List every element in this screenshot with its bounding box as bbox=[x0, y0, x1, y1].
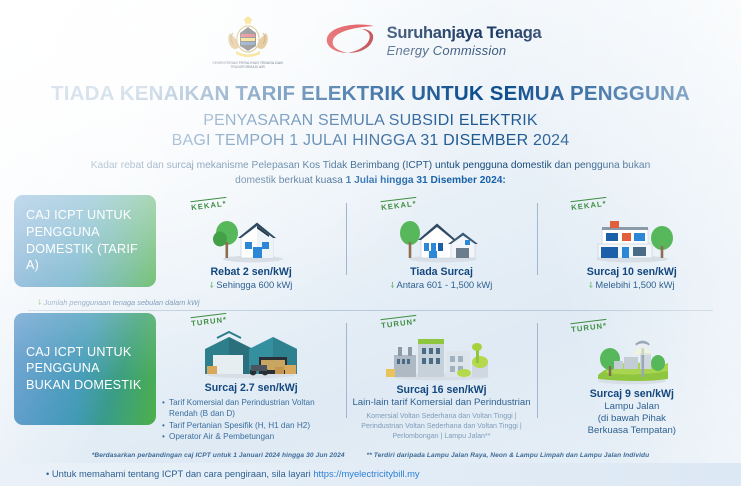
tier-description: Lain-lain tarif Komersial dan Perindustr… bbox=[352, 397, 530, 408]
dagger-icon: ⸸ bbox=[589, 281, 593, 290]
domestic-tier-1: KEKAL* Re bbox=[156, 195, 346, 295]
tier-description-line-3: Berkuasa Tempatan) bbox=[588, 425, 676, 436]
title-block: TIADA KENAIKAN TARIF ELEKTRIK UNTUK SEMU… bbox=[0, 82, 741, 189]
intro-highlight: 1 Julai hingga 31 Disember 2024: bbox=[346, 175, 506, 186]
footnote-2: ** Terdiri daripada Lampu Jalan Raya, Ne… bbox=[367, 452, 650, 459]
domestic-section: CAJ ICPT UNTUK PENGGUNA DOMESTIK (TARIF … bbox=[0, 195, 741, 295]
main-title: TIADA KENAIKAN TARIF ELEKTRIK UNTUK SEMU… bbox=[14, 82, 727, 106]
subtitle-line-1: PENYASARAN SEMULA SUBSIDI ELEKTRIK bbox=[14, 111, 727, 131]
footer: *Berdasarkan perbandingan caj ICPT untuk… bbox=[0, 448, 741, 486]
list-item: Tarif Pertanian Spesifik (H, H1 dan H2) bbox=[162, 420, 340, 431]
tier-title: Surcaj 16 sen/kWj bbox=[396, 384, 486, 396]
large-house-icon bbox=[582, 211, 682, 263]
tier-title: Surcaj 2.7 sen/kWj bbox=[205, 382, 298, 394]
status-badge: TURUN* bbox=[190, 313, 227, 328]
footnote-row: *Berdasarkan perbandingan caj ICPT untuk… bbox=[0, 448, 741, 459]
tier-description-line-1: Lampu Jalan bbox=[604, 401, 659, 412]
street-lamp-icon bbox=[580, 333, 684, 385]
nondomestic-category-label: CAJ ICPT UNTUK PENGGUNA BUKAN DOMESTIK bbox=[14, 313, 156, 425]
header: KEMENTERIAN PERALIHAN TENAGA DAN TRANSFO… bbox=[0, 0, 741, 82]
small-house-icon bbox=[207, 211, 295, 263]
tier-bullet-list: Tarif Komersial dan Perindustrian Voltan… bbox=[162, 397, 340, 442]
tier-subtitle: ⸸ Sehingga 600 kWj bbox=[210, 279, 292, 291]
cta-text: • Untuk memahami tentang ICPT dan cara p… bbox=[46, 468, 313, 479]
subtitle-line-2: BAGI TEMPOH 1 JULAI HINGGA 31 DISEMBER 2… bbox=[14, 131, 727, 151]
nondomestic-section: CAJ ICPT UNTUK PENGGUNA BUKAN DOMESTIK T… bbox=[0, 313, 741, 445]
list-item: Tarif Komersial dan Perindustrian Voltan… bbox=[162, 397, 340, 420]
intro-paragraph: Kadar rebat dan surcaj mekanisme Pelepas… bbox=[14, 159, 727, 189]
tier-description-line-2: (di bawah Pihak bbox=[598, 413, 666, 424]
tier-detail: Komersial Voltan Sederhana dan Voltan Ti… bbox=[352, 411, 530, 441]
malaysia-crest-icon bbox=[222, 13, 274, 59]
nondomestic-columns: TURUN* bbox=[156, 313, 727, 445]
list-item: Operator Air & Pembetungan bbox=[162, 431, 340, 442]
domestic-footnote: ⸸ Jumlah penggunaan tenaga sebulan dalam… bbox=[0, 295, 741, 310]
suruhanjaya-tenaga-mark-icon bbox=[322, 20, 380, 62]
tier-subtitle: ⸸ Melebihi 1,500 kWj bbox=[589, 279, 675, 291]
tier-title: Surcaj 10 sen/kWj bbox=[587, 266, 677, 278]
dagger-icon: ⸸ bbox=[391, 281, 395, 290]
commission-name: Suruhanjaya Tenaga bbox=[387, 25, 542, 42]
warehouse-icon bbox=[191, 327, 311, 379]
cta-bar: • Untuk memahami tentang ICPT dan cara p… bbox=[0, 463, 741, 486]
government-logo: KEMENTERIAN PERALIHAN TENAGA DAN TRANSFO… bbox=[200, 13, 296, 70]
commission-subtitle: Energy Commission bbox=[387, 44, 542, 57]
tier-subtitle: ⸸ Antara 601 - 1,500 kWj bbox=[391, 279, 493, 291]
nondomestic-tier-2: TURUN* bbox=[346, 313, 536, 445]
section-divider bbox=[28, 310, 713, 311]
factory-icon bbox=[376, 329, 506, 381]
electricity-bill-link[interactable]: https://myelectricitybill.my bbox=[313, 468, 419, 479]
dagger-icon: ⸸ bbox=[38, 298, 41, 307]
dagger-icon: ⸸ bbox=[210, 281, 214, 290]
domestic-category-label: CAJ ICPT UNTUK PENGGUNA DOMESTIK (TARIF … bbox=[14, 195, 156, 287]
energy-commission-logo: Suruhanjaya Tenaga Energy Commission bbox=[322, 20, 542, 62]
tier-title: Rebat 2 sen/kWj bbox=[211, 266, 292, 278]
ministry-name: KEMENTERIAN PERALIHAN TENAGA DAN TRANSFO… bbox=[200, 61, 296, 70]
status-badge: KEKAL* bbox=[380, 196, 417, 211]
tier-title: Tiada Surcaj bbox=[410, 266, 473, 278]
medium-house-icon bbox=[393, 211, 489, 263]
status-badge: KEKAL* bbox=[190, 196, 227, 211]
status-badge: TURUN* bbox=[571, 319, 608, 334]
infographic-root: KEMENTERIAN PERALIHAN TENAGA DAN TRANSFO… bbox=[0, 0, 741, 486]
domestic-tier-2: KEKAL* bbox=[346, 195, 536, 295]
domestic-columns: KEKAL* Re bbox=[156, 195, 727, 295]
nondomestic-tier-3: TURUN* bbox=[537, 313, 727, 445]
status-badge: KEKAL* bbox=[571, 196, 608, 211]
domestic-tier-3: KEKAL* bbox=[537, 195, 727, 295]
nondomestic-tier-1: TURUN* bbox=[156, 313, 346, 445]
tier-title: Surcaj 9 sen/kWj bbox=[590, 388, 674, 400]
status-badge: TURUN* bbox=[380, 314, 417, 329]
footnote-1: *Berdasarkan perbandingan caj ICPT untuk… bbox=[92, 452, 345, 459]
